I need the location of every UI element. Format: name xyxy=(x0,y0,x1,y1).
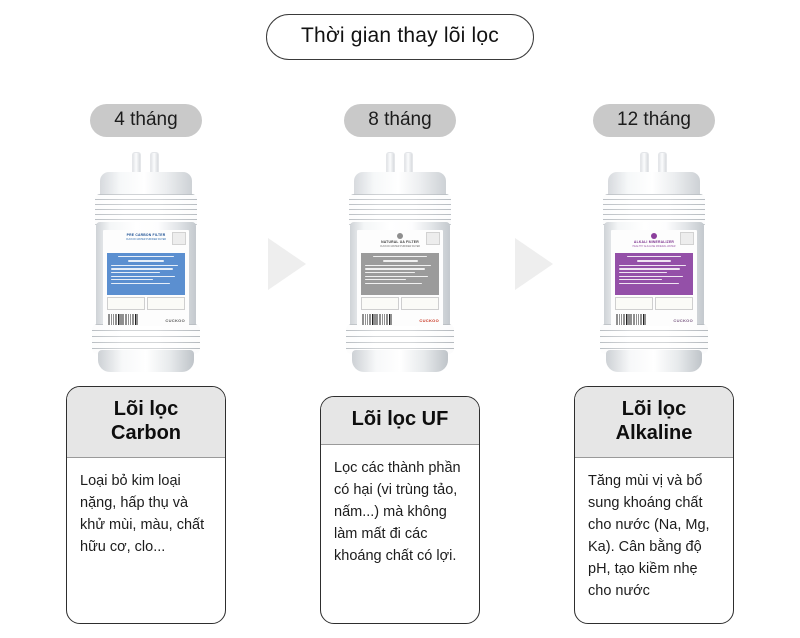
label-logo-icon xyxy=(651,233,657,239)
info-card-title-carbon: Lõi lọc Carbon xyxy=(67,387,225,458)
cartridge-label-alkaline: ALKALI MINERALIZER HEALTHY ALKALINE MINE… xyxy=(611,230,697,326)
cartridge-label-uf: NATURAL UA FILTER CUCKOO WATER PURIFIER … xyxy=(357,230,443,326)
info-card-title-line2: Carbon xyxy=(111,422,181,444)
info-card-body-carbon: Loại bỏ kim loại nặng, hấp thụ và khử mù… xyxy=(67,458,225,623)
cartridge-nozzle-left-icon xyxy=(640,152,649,174)
label-logo-icon xyxy=(397,233,403,239)
label-field-1 xyxy=(615,297,653,310)
cartridge-nozzle-left-icon xyxy=(386,152,395,174)
cartridge-nozzle-left-icon xyxy=(132,152,141,174)
label-corner-graphic xyxy=(680,232,694,245)
cartridge-nozzle-right-icon xyxy=(404,152,413,174)
label-text-block xyxy=(361,253,439,295)
cartridge-base-cap xyxy=(352,350,448,372)
cartridge-label-carbon: PRE CARBON FILTER CUCKOO WATER PURIFIER … xyxy=(103,230,189,326)
info-card-body-alkaline: Tăng mùi vị và bổ sung khoáng chất cho n… xyxy=(575,458,733,623)
label-field-2 xyxy=(401,297,439,310)
brand-name: CUCKOO xyxy=(673,318,693,325)
label-subtitle: HEALTHY ALKALINE MINERAL WATER xyxy=(615,245,693,248)
label-subtitle: CUCKOO WATER PURIFIER FILTER xyxy=(361,245,439,248)
info-card-alkaline: Lõi lọc Alkaline Tăng mùi vị và bổ sung … xyxy=(574,386,734,624)
label-text-block xyxy=(107,253,185,295)
info-card-title-line1: Lõi lọc xyxy=(622,398,686,420)
label-field-1 xyxy=(107,297,145,310)
filter-cartridge-alkaline: ALKALI MINERALIZER HEALTHY ALKALINE MINE… xyxy=(595,152,713,374)
filter-cartridge-uf: NATURAL UA FILTER CUCKOO WATER PURIFIER … xyxy=(341,152,459,374)
replacement-period-badge-carbon: 4 tháng xyxy=(90,104,201,137)
stages-container: 4 tháng PRE CARBON FILTER CUCKOO WATER P… xyxy=(0,0,800,638)
label-field-1 xyxy=(361,297,399,310)
brand-name: CUCKOO xyxy=(165,318,185,325)
info-card-title-uf: Lõi lọc UF xyxy=(321,397,479,445)
label-field-2 xyxy=(655,297,693,310)
info-card-uf: Lõi lọc UF Lọc các thành phần có hại (vi… xyxy=(320,396,480,624)
replacement-period-badge-alkaline: 12 tháng xyxy=(593,104,715,137)
cartridge-nozzle-right-icon xyxy=(150,152,159,174)
brand-name: CUCKOO xyxy=(419,318,439,325)
info-card-carbon: Lõi lọc Carbon Loại bỏ kim loại nặng, hấ… xyxy=(66,386,226,624)
info-card-title-line2: Alkaline xyxy=(616,422,693,444)
label-corner-graphic xyxy=(172,232,186,245)
barcode-icon xyxy=(616,314,646,325)
stage-column-carbon: 4 tháng PRE CARBON FILTER CUCKOO WATER P… xyxy=(40,0,252,638)
stage-column-uf: 8 tháng NATURAL UA FILTER CUCKOO WATER P… xyxy=(294,0,506,638)
info-card-body-uf: Lọc các thành phần có hại (vi trùng tảo,… xyxy=(321,445,479,623)
cartridge-base-cap xyxy=(98,350,194,372)
barcode-icon xyxy=(108,314,138,325)
replacement-period-badge-uf: 8 tháng xyxy=(344,104,455,137)
filter-cartridge-carbon: PRE CARBON FILTER CUCKOO WATER PURIFIER … xyxy=(87,152,205,374)
stage-column-alkaline: 12 tháng ALKALI MINERALIZER HEALTHY ALKA… xyxy=(548,0,760,638)
info-card-title-alkaline: Lõi lọc Alkaline xyxy=(575,387,733,458)
label-corner-graphic xyxy=(426,232,440,245)
label-field-2 xyxy=(147,297,185,310)
info-card-title-line1: Lõi lọc xyxy=(114,398,178,420)
label-text-block xyxy=(615,253,693,295)
barcode-icon xyxy=(362,314,392,325)
info-card-title-line1: Lõi lọc UF xyxy=(352,408,449,430)
cartridge-base-cap xyxy=(606,350,702,372)
cartridge-nozzle-right-icon xyxy=(658,152,667,174)
